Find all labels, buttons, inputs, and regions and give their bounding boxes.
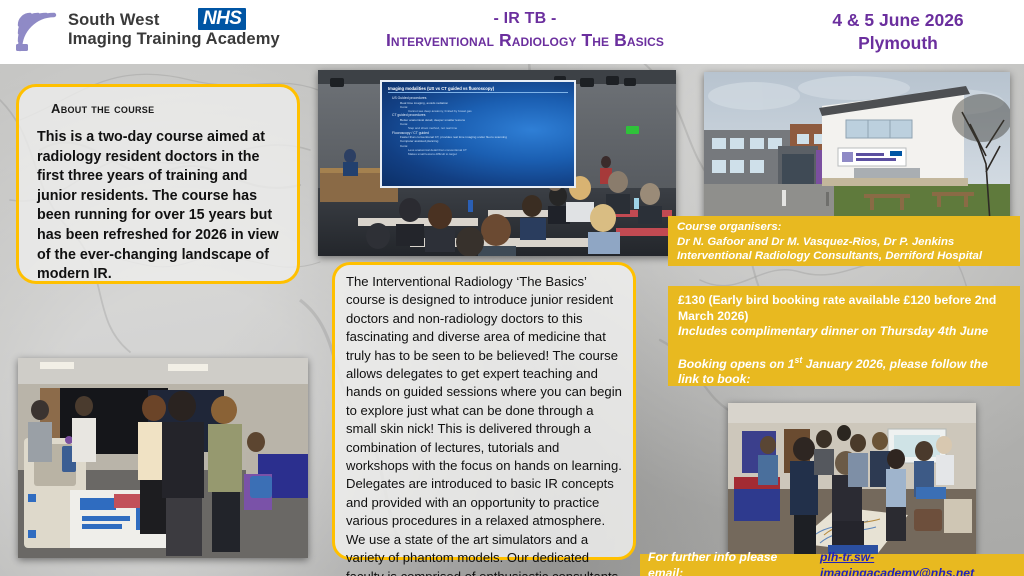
booking-prefix: Booking opens on 1 [678, 357, 794, 371]
organisers-label: Course organisers: [677, 220, 1011, 235]
flyer-canvas: Imaging modalities (US vs CT guided vs f… [0, 0, 1024, 576]
organisers-names: Dr N. Gafoor and Dr M. Vasquez-Rios, Dr … [677, 235, 1011, 250]
contact-email-link[interactable]: plh-tr.sw-imagingacademy@nhs.net [820, 549, 1016, 576]
course-organisers-banner: Course organisers: Dr N. Gafoor and Dr M… [668, 216, 1020, 266]
course-code-title: - IR TB - [330, 8, 720, 29]
academy-building-photo [704, 72, 1010, 222]
event-location: Plymouth [776, 32, 1020, 55]
slide-bullet: Makes small lesions difficult to target [408, 152, 568, 156]
pricing-booking-banner: £130 (Early bird booking rate available … [668, 286, 1020, 386]
lecture-hall-photo: Imaging modalities (US vs CT guided vs f… [318, 70, 676, 256]
workshop-right-photo [728, 403, 976, 555]
price-line: £130 (Early bird booking rate available … [678, 293, 1010, 324]
course-full-title: Interventional Radiology The Basics [330, 29, 720, 52]
about-course-heading: About the course [51, 101, 283, 116]
slide-title: Imaging modalities (US vs CT guided vs f… [388, 86, 568, 93]
course-description-card: The Interventional Radiology ‘The Basics… [332, 262, 636, 560]
contact-email-label: For further info please email: [648, 549, 806, 576]
about-course-body: This is a two-day course aimed at radiol… [37, 128, 283, 285]
header-bar: South West Imaging Training Academy NHS … [0, 0, 1024, 64]
workshop-left-photo [18, 358, 308, 558]
event-date: 4 & 5 June 2026 [776, 9, 1020, 32]
nhs-logo: NHS [198, 8, 246, 30]
logo-line-1: South West [68, 11, 280, 30]
swita-arcs-logo-icon [14, 8, 60, 52]
logo-line-2: Imaging Training Academy [68, 30, 280, 49]
dinner-line: Includes complimentary dinner on Thursda… [678, 324, 1010, 340]
contact-email-banner: For further info please email: plh-tr.sw… [640, 554, 1024, 576]
flyer-title: - IR TB - Interventional Radiology The B… [330, 8, 720, 52]
academy-logo-text: South West Imaging Training Academy [68, 11, 280, 49]
course-description-body: The Interventional Radiology ‘The Basics… [346, 273, 622, 576]
about-course-card: About the course This is a two-day cours… [16, 84, 300, 284]
projected-slide: Imaging modalities (US vs CT guided vs f… [380, 80, 576, 188]
booking-open-line: Booking opens on 1st January 2026, pleas… [678, 353, 1010, 388]
organisers-role: Interventional Radiology Consultants, De… [677, 249, 1011, 264]
event-date-location: 4 & 5 June 2026 Plymouth [776, 9, 1020, 55]
